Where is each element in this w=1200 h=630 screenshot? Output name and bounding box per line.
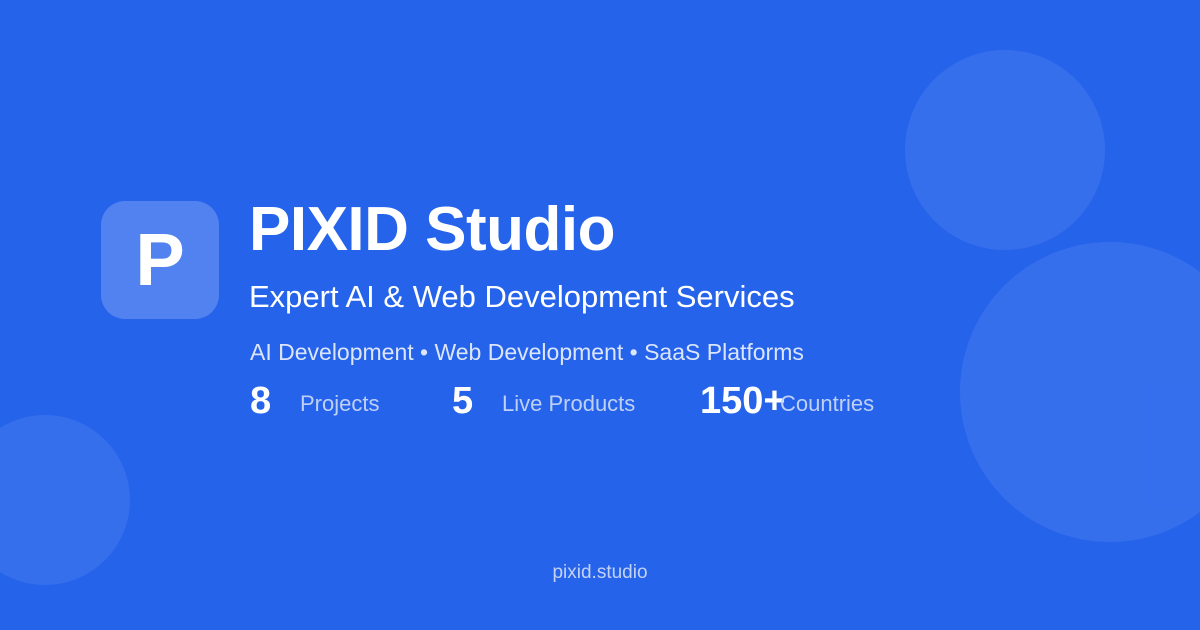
services-line: AI Development • Web Development • SaaS … — [250, 339, 804, 366]
og-card: P PIXID Studio Expert AI & Web Developme… — [0, 0, 1200, 630]
logo-letter: P — [135, 223, 184, 297]
brand-row: P PIXID Studio Expert AI & Web Developme… — [101, 195, 1101, 319]
card-content: P PIXID Studio Expert AI & Web Developme… — [101, 195, 1101, 319]
stat-value: 8 — [250, 381, 271, 421]
brand-text: PIXID Studio Expert AI & Web Development… — [249, 195, 795, 315]
logo-tile-icon: P — [101, 201, 219, 319]
page-subtitle: Expert AI & Web Development Services — [249, 278, 795, 315]
stat-value: 5 — [452, 381, 473, 421]
stat-label: Countries — [780, 390, 874, 418]
decorative-circle-bottom-left — [0, 415, 130, 585]
page-title: PIXID Studio — [249, 197, 795, 262]
stat-label: Live Products — [502, 390, 635, 418]
stat-value: 150+ — [700, 381, 786, 421]
stat-label: Projects — [300, 390, 379, 418]
footer-domain: pixid.studio — [0, 562, 1200, 584]
